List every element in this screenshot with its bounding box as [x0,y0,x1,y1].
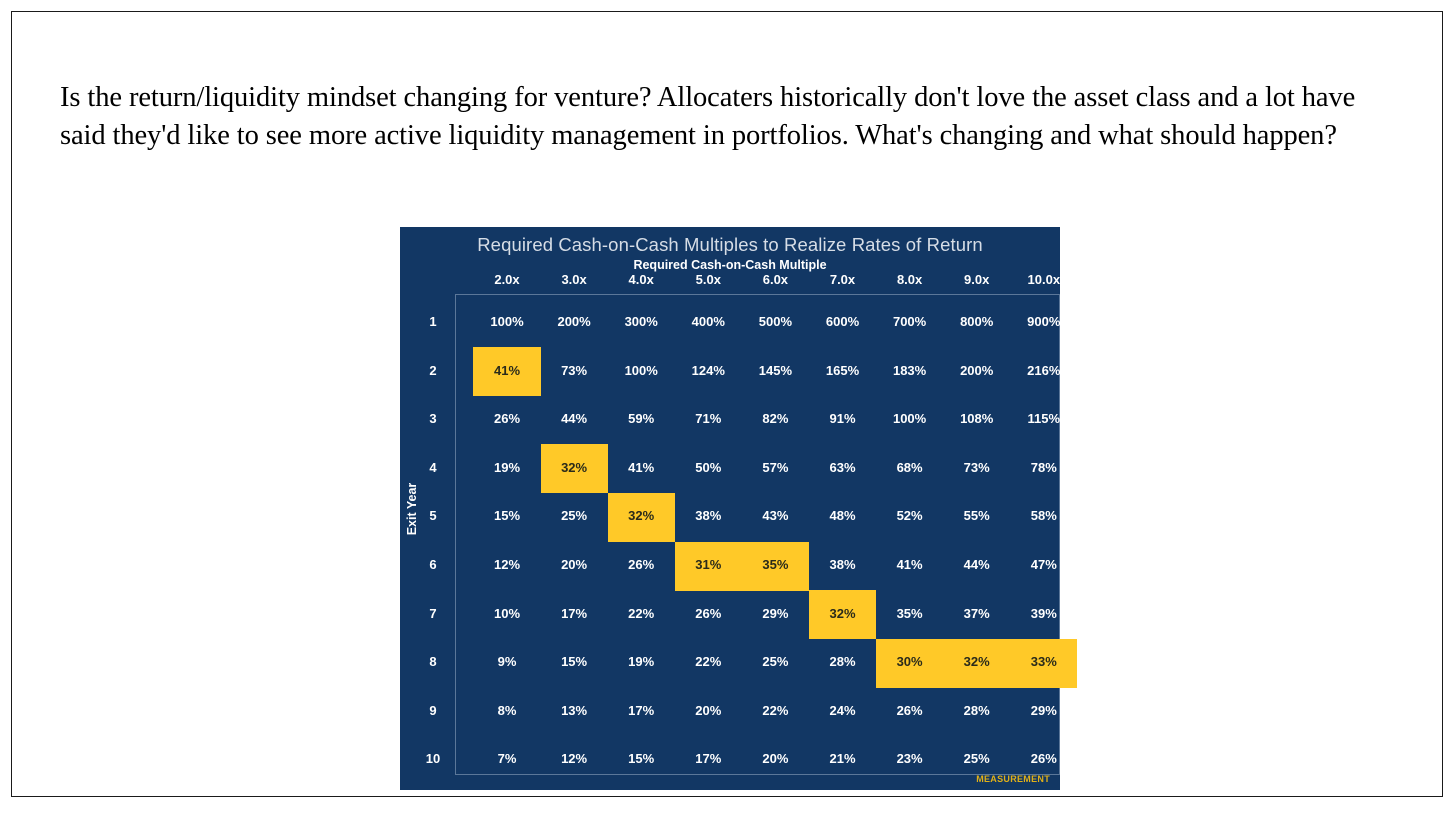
heatmap-cell: 15% [474,508,540,523]
heatmap-cell: 30% [877,654,943,669]
column-header-row: 2.0x3.0x4.0x5.0x6.0x7.0x8.0x9.0x10.0x [455,272,1060,294]
column-header-10.0x: 10.0x [1011,272,1077,287]
heatmap-cell: 91% [810,411,876,426]
heatmap-cell: 20% [675,703,741,718]
column-header-9.0x: 9.0x [944,272,1010,287]
heatmap-cell: 500% [742,314,808,329]
heatmap-cell: 50% [675,460,741,475]
heatmap-cell: 12% [541,751,607,766]
heatmap-cell: 15% [541,654,607,669]
heatmap-cell: 100% [877,411,943,426]
heatmap-cell: 78% [1011,460,1077,475]
row-label-year-8: 8 [418,654,448,669]
heatmap-cell: 300% [608,314,674,329]
heatmap-cell: 600% [810,314,876,329]
heatmap-cell: 44% [541,411,607,426]
heatmap-cell: 68% [877,460,943,475]
row-label-year-7: 7 [418,606,448,621]
heatmap-cell: 19% [608,654,674,669]
heatmap-cell: 108% [944,411,1010,426]
slide-canvas: Is the return/liquidity mindset changing… [11,11,1443,797]
heatmap-cell: 63% [810,460,876,475]
heatmap-cell: 39% [1011,606,1077,621]
heatmap-cell: 29% [742,606,808,621]
row-label-year-6: 6 [418,557,448,572]
heatmap-cell: 58% [1011,508,1077,523]
heatmap-cell: 10% [474,606,540,621]
heatmap-cell: 19% [474,460,540,475]
heatmap-cell: 100% [608,363,674,378]
heatmap-cell: 20% [541,557,607,572]
heatmap-cell: 25% [742,654,808,669]
heatmap-cell: 165% [810,363,876,378]
heatmap-cell: 73% [541,363,607,378]
heatmap-cell: 25% [541,508,607,523]
heatmap-cell: 33% [1011,654,1077,669]
heatmap-cell: 12% [474,557,540,572]
heatmap-cell: 57% [742,460,808,475]
heatmap-cell: 145% [742,363,808,378]
heatmap-cell: 13% [541,703,607,718]
column-header-8.0x: 8.0x [877,272,943,287]
heatmap-cell: 26% [1011,751,1077,766]
column-header-3.0x: 3.0x [541,272,607,287]
heatmap-cell: 22% [675,654,741,669]
heatmap-cell: 29% [1011,703,1077,718]
heatmap-cell: 900% [1011,314,1077,329]
chart-title: Required Cash-on-Cash Multiples to Reali… [400,234,1060,256]
heatmap-cell: 216% [1011,363,1077,378]
heatmap-cell: 400% [675,314,741,329]
heatmap-cell: 32% [608,508,674,523]
heatmap-cell: 7% [474,751,540,766]
column-header-5.0x: 5.0x [675,272,741,287]
heatmap-cell: 41% [608,460,674,475]
heatmap-cell: 59% [608,411,674,426]
heatmap-cell: 115% [1011,411,1077,426]
row-label-year-2: 2 [418,363,448,378]
heatmap-cell: 800% [944,314,1010,329]
heatmap-cell: 8% [474,703,540,718]
row-label-year-4: 4 [418,460,448,475]
heatmap-cell: 43% [742,508,808,523]
heatmap-cell: 100% [474,314,540,329]
heatmap-cell: 31% [675,557,741,572]
row-label-year-10: 10 [418,751,448,766]
column-header-6.0x: 6.0x [742,272,808,287]
heatmap-cell: 17% [541,606,607,621]
heatmap-cell: 17% [675,751,741,766]
heatmap-cell: 17% [608,703,674,718]
row-label-year-3: 3 [418,411,448,426]
heatmap-cell: 23% [877,751,943,766]
heatmap-cell: 48% [810,508,876,523]
heatmap-cell: 71% [675,411,741,426]
heatmap-cell: 22% [742,703,808,718]
heatmap-cell: 26% [675,606,741,621]
heatmap-cell: 32% [541,460,607,475]
heatmap-cell: 700% [877,314,943,329]
y-axis-title: Exit Year [405,479,419,539]
heatmap-cell: 15% [608,751,674,766]
heatmap-cell: 32% [810,606,876,621]
heatmap-cell: 24% [810,703,876,718]
column-header-2.0x: 2.0x [474,272,540,287]
heatmap-cell: 41% [474,363,540,378]
column-header-4.0x: 4.0x [608,272,674,287]
heatmap-cell: 38% [810,557,876,572]
heatmap-cell: 35% [742,557,808,572]
heatmap-cell: 200% [944,363,1010,378]
row-label-year-5: 5 [418,508,448,523]
heatmap-cell: 41% [877,557,943,572]
heatmap-cell: 20% [742,751,808,766]
heatmap-cell: 47% [1011,557,1077,572]
heatmap-cell: 26% [877,703,943,718]
heatmap-cell: 38% [675,508,741,523]
heatmap-cell: 25% [944,751,1010,766]
heatmap-cell: 22% [608,606,674,621]
heatmap-cell: 73% [944,460,1010,475]
heatmap-cell: 44% [944,557,1010,572]
heatmap-cell: 55% [944,508,1010,523]
heatmap-cell: 200% [541,314,607,329]
heatmap-cell: 35% [877,606,943,621]
heatmap-cell: 21% [810,751,876,766]
heatmap-cell: 52% [877,508,943,523]
cash-on-cash-heatmap-chart: Required Cash-on-Cash Multiples to Reali… [400,227,1060,790]
row-label-year-9: 9 [418,703,448,718]
heatmap-cell: 37% [944,606,1010,621]
measurement-watermark: MEASUREMENT [976,774,1050,784]
heatmap-cell: 28% [810,654,876,669]
heatmap-cell: 28% [944,703,1010,718]
chart-subtitle: Required Cash-on-Cash Multiple [400,258,1060,272]
heatmap-cell: 32% [944,654,1010,669]
heatmap-cell: 82% [742,411,808,426]
heatmap-cell: 124% [675,363,741,378]
row-label-year-1: 1 [418,314,448,329]
heatmap-cell: 9% [474,654,540,669]
slide-headline: Is the return/liquidity mindset changing… [60,79,1405,155]
heatmap-cell: 26% [474,411,540,426]
heatmap-cell: 26% [608,557,674,572]
column-header-7.0x: 7.0x [810,272,876,287]
heatmap-cell: 183% [877,363,943,378]
